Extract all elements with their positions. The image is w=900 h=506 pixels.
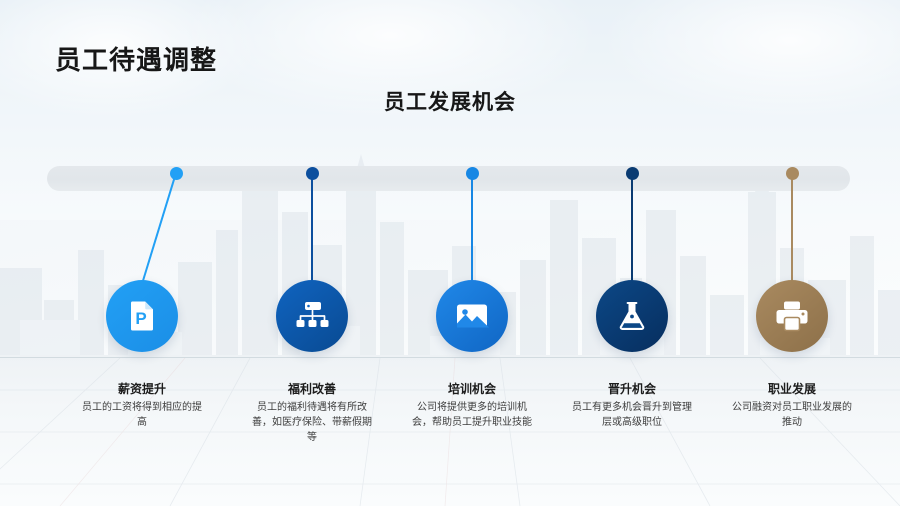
timeline-node-title: 福利改善 [222, 380, 402, 397]
timeline-icon-badge[interactable] [756, 280, 828, 352]
timeline-node-title: 职业发展 [702, 380, 882, 397]
timeline-node-description: 员工有更多机会晋升到管理层或高级职位 [570, 400, 694, 430]
timeline-node-title: 薪资提升 [52, 380, 232, 397]
timeline-bar [47, 166, 850, 191]
timeline-marker-dot[interactable] [466, 167, 479, 180]
timeline-marker-dot[interactable] [786, 167, 799, 180]
image-icon [455, 299, 489, 333]
timeline-connector-line [791, 173, 793, 284]
slide-canvas: 员工待遇调整 员工发展机会 P薪资提升员工的工资将得到相应的提高福利改善员工的福… [0, 0, 900, 506]
timeline-connector-line [311, 173, 313, 284]
timeline-node-description: 员工的工资将得到相应的提高 [80, 400, 204, 430]
page-title: 员工待遇调整 [55, 40, 217, 77]
printer-icon [775, 299, 809, 333]
timeline-icon-badge[interactable] [276, 280, 348, 352]
page-subtitle: 员工发展机会 [0, 86, 900, 116]
timeline-marker-dot[interactable] [170, 167, 183, 180]
timeline-node-description: 公司将提供更多的培训机会，帮助员工提升职业技能 [410, 400, 534, 430]
document-p-icon: P [124, 298, 160, 334]
timeline-marker-dot[interactable] [306, 167, 319, 180]
timeline-node-description: 员工的福利待遇将有所改善，如医疗保险、带薪假期等 [250, 400, 374, 445]
flask-icon [615, 299, 649, 333]
timeline-marker-dot[interactable] [626, 167, 639, 180]
timeline-node-title: 培训机会 [382, 380, 562, 397]
timeline-connector-line [471, 173, 473, 284]
timeline-icon-badge[interactable] [436, 280, 508, 352]
timeline-node-description: 公司融资对员工职业发展的推动 [730, 400, 854, 430]
timeline-connector-line [631, 173, 633, 284]
timeline-node-title: 晋升机会 [542, 380, 722, 397]
sitemap-icon [295, 299, 329, 333]
svg-text:P: P [135, 309, 146, 328]
timeline-icon-badge[interactable]: P [106, 280, 178, 352]
timeline-icon-badge[interactable] [596, 280, 668, 352]
